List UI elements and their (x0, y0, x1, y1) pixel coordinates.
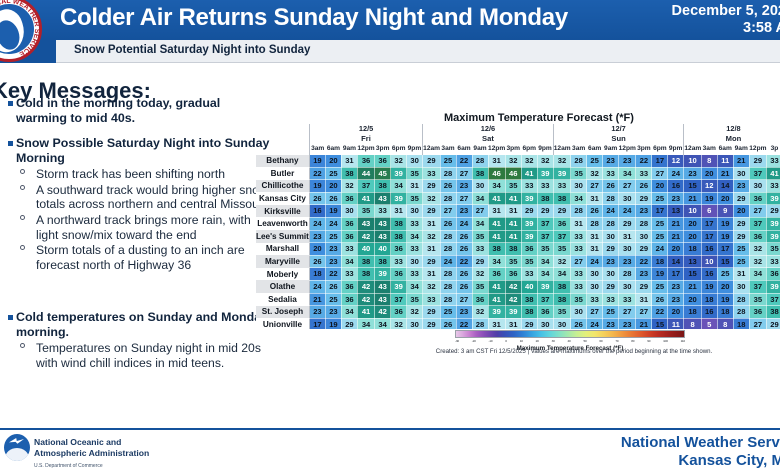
hour-header: 3p (766, 144, 780, 155)
temperature-cell: 38 (375, 180, 391, 193)
hour-header: 6pm (521, 144, 537, 155)
temperature-cell: 20 (325, 180, 341, 193)
temperature-cell: 24 (309, 280, 325, 293)
temperature-cell: 32 (391, 318, 407, 329)
temperature-cell: 36 (341, 280, 357, 293)
day-group-name: Sun (553, 134, 684, 144)
temperature-cell: 33 (521, 268, 537, 281)
temperature-cell: 33 (766, 255, 780, 268)
temperature-cell: 35 (407, 192, 423, 205)
hour-header: 9am (603, 144, 619, 155)
temperature-cell: 23 (456, 306, 472, 319)
temperature-cell: 35 (571, 167, 587, 180)
temperature-cell: 41 (488, 280, 505, 293)
temperature-cell: 35 (505, 180, 521, 193)
temperature-cell: 29 (423, 180, 440, 193)
colorbar-tick-label: 30 (552, 338, 555, 345)
temperature-cell: 29 (521, 318, 537, 329)
noaa-line2: Atmospheric Administration (34, 448, 149, 459)
temperature-cell: 20 (668, 306, 684, 319)
temperature-cell: 46 (488, 167, 505, 180)
temperature-cell: 29 (733, 217, 749, 230)
key-message-bullet: Storm track has been shifting north (16, 167, 274, 182)
colorbar-tick-label: -30 (455, 338, 459, 345)
hour-header: 6am (717, 144, 733, 155)
temperature-cell: 36 (488, 268, 505, 281)
temperature-cell: 24 (603, 205, 619, 218)
temperature-cell: 25 (603, 306, 619, 319)
temperature-cell: 34 (472, 192, 488, 205)
temperature-cell: 33 (603, 167, 619, 180)
temperature-cell: 31 (619, 230, 636, 243)
temperature-cell: 30 (407, 205, 423, 218)
day-group-date: 12/5 (309, 124, 422, 134)
temperature-cell: 36 (341, 217, 357, 230)
temperature-cell: 38 (521, 293, 537, 306)
temperature-cell: 29 (521, 205, 537, 218)
temperature-cell: 39 (766, 192, 780, 205)
hour-header: 12pm (749, 144, 766, 155)
temperature-cell: 39 (391, 167, 407, 180)
temperature-cell: 39 (553, 167, 570, 180)
temperature-cell: 34 (341, 306, 357, 319)
colorbar-tick-label: 70 (615, 338, 618, 345)
temperature-cell: 25 (325, 230, 341, 243)
temperature-cell: 37 (537, 230, 553, 243)
hour-header: 12am (423, 144, 440, 155)
temperature-cell: 26 (440, 217, 456, 230)
temperature-cell: 35 (505, 255, 521, 268)
temperature-cell: 23 (619, 318, 636, 329)
temperature-cell: 27 (456, 192, 472, 205)
temperature-cell: 28 (636, 217, 652, 230)
temperature-cell: 34 (619, 167, 636, 180)
temperature-cell: 29 (766, 205, 780, 218)
temperature-cell: 38 (357, 268, 374, 281)
hour-header: 12pm (619, 144, 636, 155)
header-date: December 5, 202 (672, 3, 780, 20)
temperature-cell: 31 (407, 180, 423, 193)
colorbar-gradient (455, 330, 685, 338)
colorbar-tick-label: -20 (472, 338, 476, 345)
table-row: Unionville171929343432302926222831312930… (256, 318, 780, 329)
temperature-cell: 44 (357, 167, 374, 180)
table-corner-date (256, 124, 309, 134)
city-label: Maryville (256, 255, 309, 268)
forecast-table-scroll[interactable]: 12/512/612/712/8 FriSatSunMon 3am6am9am1… (256, 124, 780, 329)
temperature-cell: 35 (553, 306, 570, 319)
temperature-cell: 25 (587, 155, 603, 168)
temperature-cell: 34 (537, 268, 553, 281)
temperature-cell: 32 (423, 192, 440, 205)
temperature-cell: 23 (636, 205, 652, 218)
temperature-cell: 35 (357, 205, 374, 218)
city-label: Kirksville (256, 205, 309, 218)
temperature-cell: 33 (391, 255, 407, 268)
temperature-cell: 27 (571, 255, 587, 268)
temperature-cell: 43 (375, 280, 391, 293)
temperature-cell: 27 (749, 318, 766, 329)
temperature-cell: 28 (571, 155, 587, 168)
temperature-cell: 30 (553, 318, 570, 329)
noaa-logo-wave (5, 448, 29, 461)
temperature-cell: 25 (733, 255, 749, 268)
temperature-cell: 32 (423, 280, 440, 293)
temperature-cell: 26 (325, 192, 341, 205)
temperature-cell: 29 (341, 318, 357, 329)
temperature-cell: 42 (357, 280, 374, 293)
temperature-cell: 16 (668, 180, 684, 193)
temperature-cell: 29 (423, 255, 440, 268)
temperature-cell: 28 (571, 205, 587, 218)
temperature-cell: 34 (749, 268, 766, 281)
temperature-cell: 17 (668, 268, 684, 281)
temperature-cell: 37 (553, 230, 570, 243)
table-corner-day (256, 134, 309, 144)
table-row: Leavenworth24243643433833312624344141393… (256, 217, 780, 230)
temperature-cell: 18 (309, 268, 325, 281)
temperature-cell: 31 (423, 243, 440, 256)
temperature-cell: 30 (603, 268, 619, 281)
temperature-cell: 27 (619, 306, 636, 319)
temperature-cell: 20 (684, 217, 701, 230)
temperature-cell: 38 (553, 293, 570, 306)
temperature-cell: 25 (717, 268, 733, 281)
temperature-cell: 25 (325, 293, 341, 306)
colorbar-caption: Created: 3 am CST Fri 12/5/2025 | Values… (404, 348, 744, 355)
city-label: St. Joseph (256, 306, 309, 319)
temperature-cell: 35 (472, 280, 488, 293)
table-corner-hour (256, 144, 309, 155)
temperature-cell: 41 (488, 217, 505, 230)
temperature-cell: 15 (717, 255, 733, 268)
temperature-cell: 30 (472, 180, 488, 193)
temperature-cell: 8 (701, 155, 717, 168)
temperature-cell: 37 (766, 293, 780, 306)
temperature-cell: 32 (749, 243, 766, 256)
temperature-cell: 34 (553, 268, 570, 281)
temperature-cell: 16 (309, 205, 325, 218)
temperature-cell: 26 (571, 318, 587, 329)
temperature-cell: 38 (521, 306, 537, 319)
temperature-cell: 23 (619, 255, 636, 268)
key-message-bullet-text: Storm track has been shifting north (36, 167, 225, 181)
temperature-cell: 17 (701, 230, 717, 243)
temperature-cell: 39 (505, 306, 521, 319)
temperature-cell: 30 (636, 230, 652, 243)
temperature-cell: 34 (472, 217, 488, 230)
temperature-cell: 41 (766, 167, 780, 180)
temperature-cell: 39 (521, 217, 537, 230)
temperature-cell: 29 (636, 243, 652, 256)
temperature-cell: 28 (440, 293, 456, 306)
temperature-cell: 41 (521, 167, 537, 180)
temperature-cell: 42 (375, 306, 391, 319)
temperature-cell: 33 (341, 243, 357, 256)
temperature-cell: 41 (488, 192, 505, 205)
temperature-cell: 31 (488, 205, 505, 218)
temperature-cell: 28 (733, 306, 749, 319)
city-label: Marshall (256, 243, 309, 256)
circle-bullet-icon (20, 245, 25, 250)
temperature-cell: 33 (407, 217, 423, 230)
temperature-cell: 30 (587, 268, 603, 281)
temperature-cell: 45 (375, 167, 391, 180)
temperature-cell: 20 (733, 205, 749, 218)
temperature-cell: 25 (325, 167, 341, 180)
temperature-cell: 20 (325, 155, 341, 168)
temperature-cell: 36 (357, 155, 374, 168)
temperature-cell: 26 (456, 230, 472, 243)
day-group-date: 12/8 (684, 124, 780, 134)
temperature-cell: 28 (440, 268, 456, 281)
nws-logo-inner (0, 4, 34, 54)
temperature-cell: 35 (407, 167, 423, 180)
temperature-cell: 26 (440, 180, 456, 193)
temperature-cell: 10 (684, 155, 701, 168)
temperature-cell: 29 (636, 280, 652, 293)
temperature-cell: 33 (423, 167, 440, 180)
day-group-name: Sat (423, 134, 554, 144)
colorbar-tick-label: 100 (663, 338, 668, 345)
temperature-cell: 30 (571, 180, 587, 193)
temperature-cell: 36 (391, 306, 407, 319)
temperature-cell: 36 (749, 306, 766, 319)
temperature-cell: 31 (733, 268, 749, 281)
key-message-heading: Snow Possible Saturday Night into Sunday… (16, 136, 274, 165)
temperature-cell: 28 (733, 293, 749, 306)
key-message-bullet: Storm totals of a dusting to an inch are… (16, 243, 274, 272)
temperature-cell: 34 (407, 280, 423, 293)
temperature-cell: 10 (684, 205, 701, 218)
temperature-cell: 32 (587, 167, 603, 180)
temperature-cell: 31 (587, 192, 603, 205)
temperature-cell: 16 (701, 268, 717, 281)
temperature-cell: 26 (603, 180, 619, 193)
key-message-block: Snow Possible Saturday Night into Sunday… (16, 136, 274, 272)
temperature-cell: 30 (571, 306, 587, 319)
temperature-cell: 22 (456, 155, 472, 168)
temperature-cell: 33 (521, 180, 537, 193)
temperature-cell: 36 (341, 230, 357, 243)
colorbar-tick-label: 60 (599, 338, 602, 345)
temperature-cell: 30 (407, 255, 423, 268)
temperature-cell: 29 (603, 243, 619, 256)
temperature-cell: 19 (325, 205, 341, 218)
temperature-cell: 35 (407, 293, 423, 306)
nws-office-line2: Kansas City, M (621, 452, 780, 470)
temperature-cell: 19 (717, 293, 733, 306)
temperature-cell: 22 (456, 318, 472, 329)
hour-header: 9am (472, 144, 488, 155)
temperature-cell: 27 (636, 306, 652, 319)
temperature-cell: 20 (717, 192, 733, 205)
header-row-hours: 3am6am9am12pm3pm6pm9pm12am3am6am9am12pm3… (256, 144, 780, 155)
temperature-cell: 28 (440, 192, 456, 205)
temperature-cell: 18 (717, 306, 733, 319)
forecast-table-title: Maximum Temperature Forecast (*F) (444, 112, 634, 124)
temperature-cell: 22 (652, 306, 668, 319)
temperature-cell: 11 (717, 155, 733, 168)
colorbar-tick-label: 40 (568, 338, 571, 345)
temperature-cell: 36 (341, 293, 357, 306)
table-row: Kansas City26263641433935322827344141393… (256, 192, 780, 205)
temperature-cell: 21 (668, 217, 684, 230)
temperature-cell: 23 (636, 268, 652, 281)
temperature-cell: 34 (341, 255, 357, 268)
city-label: Chillicothe (256, 180, 309, 193)
temperature-cell: 31 (391, 205, 407, 218)
forecast-table-body: Bethany192031363632302925222831323232322… (256, 155, 780, 330)
temperature-cell: 20 (717, 280, 733, 293)
temperature-cell: 38 (488, 243, 505, 256)
temperature-cell: 26 (309, 255, 325, 268)
temperature-cell: 31 (571, 217, 587, 230)
temperature-cell: 18 (684, 243, 701, 256)
temperature-cell: 31 (505, 318, 521, 329)
temperature-cell: 22 (309, 167, 325, 180)
temperature-cell: 36 (749, 230, 766, 243)
temperature-cell: 38 (341, 167, 357, 180)
temperature-cell: 31 (505, 205, 521, 218)
key-message-heading: Cold in the morning today, gradual warmi… (16, 96, 274, 125)
temperature-cell: 36 (375, 155, 391, 168)
temperature-cell: 30 (619, 280, 636, 293)
key-message-heading: Cold temperatures on Sunday and Monday m… (16, 310, 274, 339)
colorbar-tick-label: -10 (489, 338, 493, 345)
noaa-line1: National Oceanic and (34, 437, 149, 448)
temperature-cell: 19 (309, 180, 325, 193)
table-row: Butler2225384445393533282738464641393935… (256, 167, 780, 180)
temperature-cell: 33 (407, 268, 423, 281)
noaa-agency-text: National Oceanic and Atmospheric Adminis… (34, 437, 149, 470)
temperature-cell: 22 (456, 255, 472, 268)
key-message-bullet: A northward track brings more rain, with… (16, 213, 274, 242)
temperature-cell: 19 (701, 280, 717, 293)
temperature-cell: 32 (423, 230, 440, 243)
temperature-cell: 33 (423, 293, 440, 306)
temperature-cell: 36 (766, 268, 780, 281)
temperature-cell: 41 (357, 192, 374, 205)
temperature-cell: 19 (717, 217, 733, 230)
temperature-cell: 43 (375, 192, 391, 205)
temperature-cell: 15 (652, 318, 668, 329)
key-message-bullet-text: A southward track would bring higher sno… (36, 183, 268, 212)
city-label: Kansas City (256, 192, 309, 205)
temperature-cell: 15 (684, 268, 701, 281)
temperature-cell: 6 (701, 205, 717, 218)
temperature-cell: 34 (375, 318, 391, 329)
temperature-cell: 23 (603, 318, 619, 329)
temperature-cell: 36 (472, 293, 488, 306)
temperature-cell: 33 (571, 268, 587, 281)
hour-header: 9pm (537, 144, 553, 155)
temperature-cell: 25 (652, 217, 668, 230)
temperature-cell: 22 (325, 268, 341, 281)
temperature-cell: 17 (652, 155, 668, 168)
table-row: Sedalia212536424337353328273641423837383… (256, 293, 780, 306)
temperature-cell: 29 (423, 205, 440, 218)
circle-bullet-icon (20, 185, 25, 190)
temperature-cell: 17 (309, 318, 325, 329)
temperature-cell: 30 (603, 230, 619, 243)
temperature-cell: 39 (488, 306, 505, 319)
temperature-cell: 30 (587, 280, 603, 293)
temperature-cell: 24 (440, 255, 456, 268)
temperature-cell: 42 (357, 293, 374, 306)
temperature-cell: 23 (684, 167, 701, 180)
circle-bullet-icon (20, 343, 25, 348)
temperature-cell: 34 (391, 180, 407, 193)
circle-bullet-icon (20, 169, 25, 174)
subtitle-text: Snow Potential Saturday Night into Sunda… (74, 44, 310, 56)
day-group-name: Mon (684, 134, 780, 144)
temperature-cell: 29 (733, 230, 749, 243)
temperature-cell: 23 (603, 255, 619, 268)
colorbar-tick-label: 110 (681, 338, 685, 345)
temperature-cell: 19 (325, 318, 341, 329)
colorbar-tick-label: 20 (536, 338, 539, 345)
temperature-cell: 31 (636, 293, 652, 306)
temperature-cell: 30 (749, 180, 766, 193)
temperature-cell: 27 (749, 205, 766, 218)
temperature-cell: 34 (537, 255, 553, 268)
temperature-cell: 23 (456, 180, 472, 193)
temperature-cell: 23 (456, 205, 472, 218)
temperature-cell: 35 (472, 230, 488, 243)
table-row: St. Joseph232334414236322925233239393836… (256, 306, 780, 319)
temperature-cell: 34 (571, 192, 587, 205)
temperature-cell: 35 (766, 243, 780, 256)
temperature-cell: 37 (357, 180, 374, 193)
temperature-cell: 18 (701, 293, 717, 306)
temperature-cell: 39 (375, 268, 391, 281)
temperature-cell: 31 (587, 243, 603, 256)
temperature-cell: 20 (309, 243, 325, 256)
page-title: Colder Air Returns Sunday Night and Mond… (60, 4, 568, 32)
temperature-cell: 26 (309, 192, 325, 205)
table-row: Maryville2623343838333029242229343535343… (256, 255, 780, 268)
temperature-cell: 17 (652, 205, 668, 218)
temperature-cell: 20 (668, 243, 684, 256)
temperature-cell: 11 (668, 318, 684, 329)
hour-header: 6am (325, 144, 341, 155)
colorbar-tick-label: 90 (647, 338, 650, 345)
temperature-cell: 32 (749, 255, 766, 268)
city-label: Moberly (256, 268, 309, 281)
temperature-cell: 34 (357, 318, 374, 329)
temperature-cell: 29 (423, 155, 440, 168)
temperature-cell: 24 (587, 255, 603, 268)
temperature-cell: 32 (341, 180, 357, 193)
temperature-cell: 41 (357, 306, 374, 319)
temperature-cell: 39 (521, 192, 537, 205)
table-row: Marshall20233340403633312826333838363535… (256, 243, 780, 256)
temperature-cell: 17 (717, 243, 733, 256)
city-label: Olathe (256, 280, 309, 293)
temperature-cell: 43 (375, 293, 391, 306)
temperature-cell: 43 (375, 217, 391, 230)
temperature-cell: 32 (553, 255, 570, 268)
temperature-cell: 27 (587, 306, 603, 319)
temperature-cell: 20 (652, 180, 668, 193)
temperature-cell: 38 (375, 255, 391, 268)
temperature-cell: 28 (587, 217, 603, 230)
temperature-cell: 31 (488, 318, 505, 329)
temperature-cell: 21 (717, 167, 733, 180)
temperature-cell: 24 (587, 318, 603, 329)
hour-header: 3pm (505, 144, 521, 155)
